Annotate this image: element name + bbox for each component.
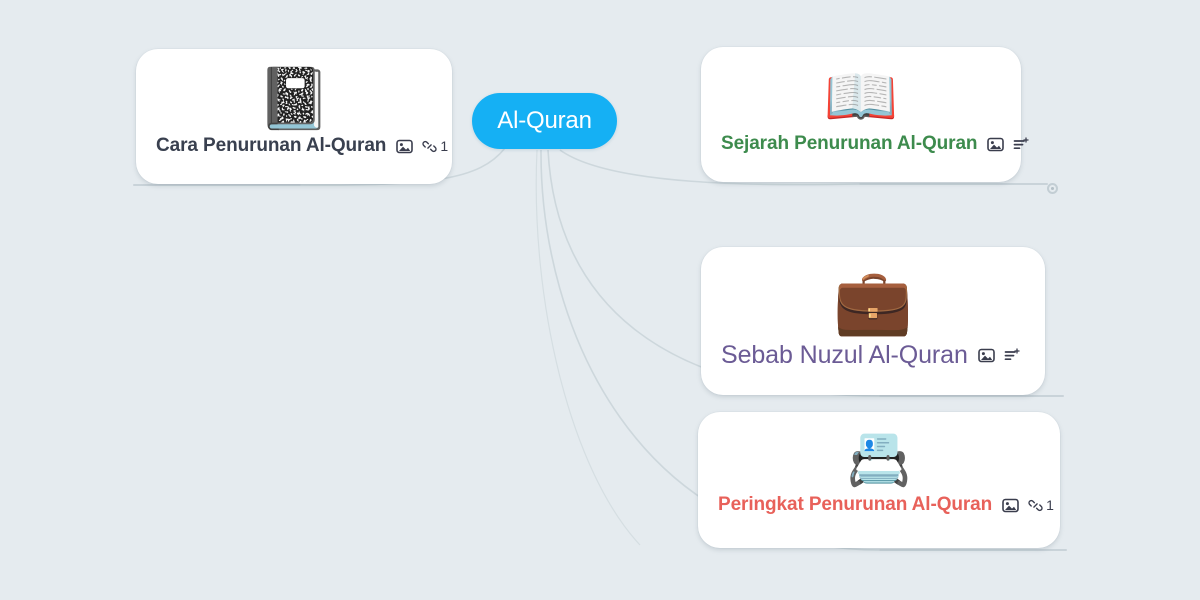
node-sebab-label-row: Sebab Nuzul Al-Quran bbox=[721, 341, 1025, 370]
node-peringkat-label: Peringkat Penurunan Al-Quran bbox=[718, 494, 992, 516]
id-card-icon: 📇 bbox=[847, 426, 912, 494]
collapse-toggle-sejarah[interactable] bbox=[1047, 183, 1058, 194]
link-icon[interactable]: 1 bbox=[422, 138, 448, 154]
node-peringkat-label-row: Peringkat Penurunan Al-Quran 1 bbox=[718, 494, 1040, 516]
node-cara-label: Cara Penurunan Al-Quran bbox=[156, 135, 386, 157]
root-node[interactable]: Al-Quran bbox=[472, 93, 617, 149]
node-sejarah-label: Sejarah Penurunan Al-Quran bbox=[721, 133, 977, 155]
node-sejarah-label-row: Sejarah Penurunan Al-Quran bbox=[721, 133, 1001, 155]
image-icon[interactable] bbox=[1002, 498, 1019, 513]
open-book-icon: 📖 bbox=[824, 61, 899, 133]
root-node-label: Al-Quran bbox=[497, 107, 591, 135]
node-sebab-label: Sebab Nuzul Al-Quran bbox=[721, 341, 968, 370]
node-sebab-nuzul[interactable]: 💼 Sebab Nuzul Al-Quran bbox=[701, 247, 1045, 395]
image-icon[interactable] bbox=[396, 139, 413, 154]
node-sejarah-penurunan[interactable]: 📖 Sejarah Penurunan Al-Quran bbox=[701, 47, 1021, 182]
mindmap-canvas[interactable]: Al-Quran 📓 Cara Penurunan Al-Quran bbox=[0, 0, 1200, 600]
node-cara-penurunan[interactable]: 📓 Cara Penurunan Al-Quran bbox=[136, 49, 452, 184]
image-icon[interactable] bbox=[987, 137, 1004, 152]
node-peringkat-badges: 1 bbox=[1002, 497, 1054, 513]
link-count: 1 bbox=[1046, 497, 1054, 513]
note-icon[interactable] bbox=[1013, 137, 1029, 152]
note-icon[interactable] bbox=[1004, 348, 1020, 363]
node-cara-label-row: Cara Penurunan Al-Quran 1 bbox=[156, 135, 432, 157]
node-sebab-badges bbox=[978, 348, 1020, 363]
briefcase-icon: 💼 bbox=[833, 261, 913, 341]
node-sejarah-badges bbox=[987, 137, 1029, 152]
node-peringkat-penurunan[interactable]: 📇 Peringkat Penurunan Al-Quran bbox=[698, 412, 1060, 548]
link-count: 1 bbox=[440, 138, 448, 154]
notebook-with-decorative-cover-icon: 📓 bbox=[257, 63, 332, 135]
link-icon[interactable]: 1 bbox=[1028, 497, 1054, 513]
image-icon[interactable] bbox=[978, 348, 995, 363]
node-cara-badges: 1 bbox=[396, 138, 448, 154]
edge-root-strand bbox=[536, 150, 640, 545]
